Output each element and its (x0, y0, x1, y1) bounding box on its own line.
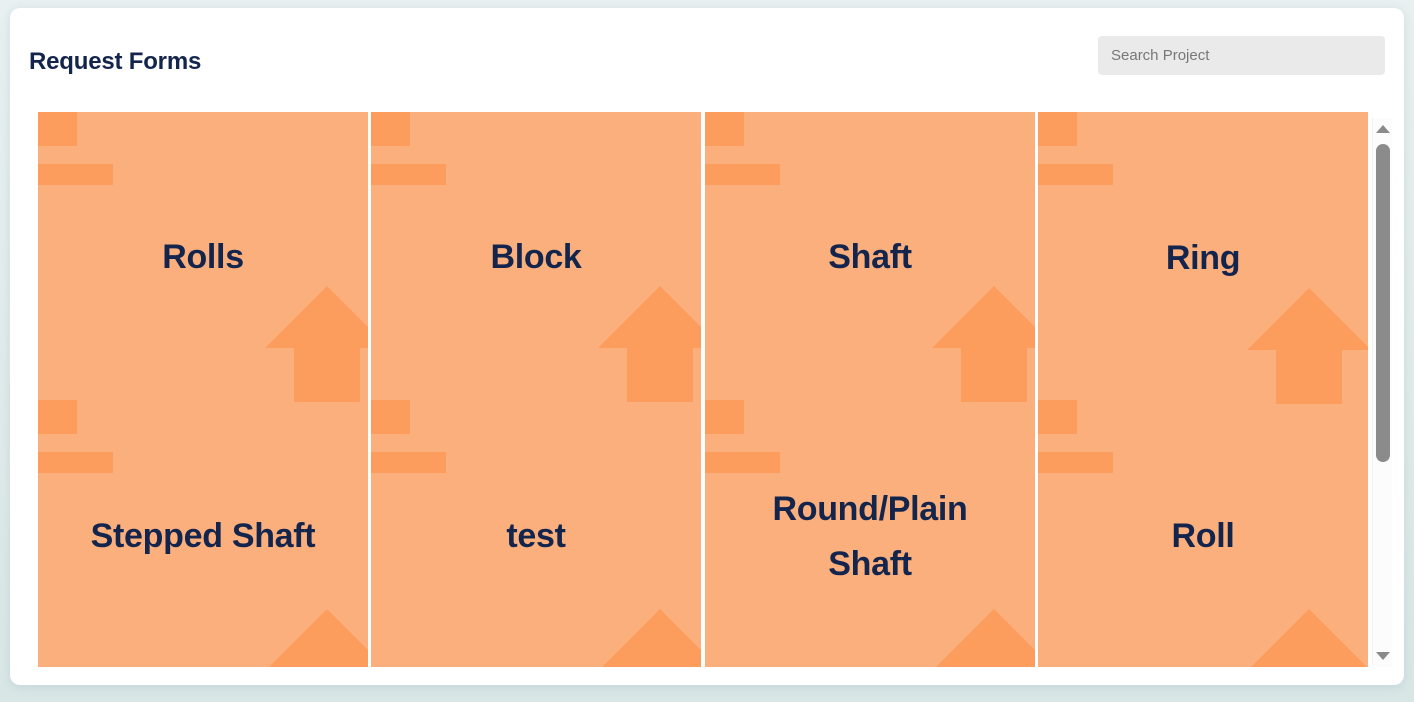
upload-arrow-icon (931, 282, 1035, 402)
card-placeholder-bar (38, 164, 113, 185)
search-input[interactable] (1098, 36, 1385, 75)
card-placeholder-block (1038, 400, 1077, 434)
triangle-up-icon (1376, 125, 1390, 133)
card-title: Block (371, 112, 701, 402)
triangle-down-icon (1376, 652, 1390, 660)
card-placeholder-block (1038, 112, 1077, 146)
upload-arrow-icon (597, 605, 701, 667)
scrollbar-down-button[interactable] (1373, 645, 1392, 667)
card-placeholder-bar (38, 452, 113, 473)
upload-arrow-icon (1246, 605, 1368, 667)
form-card[interactable]: Ring (1038, 112, 1368, 404)
card-placeholder-block (38, 400, 77, 434)
panel-header: Request Forms (10, 8, 1404, 100)
card-title: Ring (1038, 112, 1368, 404)
form-card[interactable]: Stepped Shaft (38, 400, 368, 667)
card-title: Roll (1038, 400, 1368, 667)
scrollbar-thumb[interactable] (1376, 144, 1390, 462)
page-title: Request Forms (29, 50, 201, 74)
card-placeholder-bar (1038, 164, 1113, 185)
vertical-scrollbar[interactable] (1372, 118, 1392, 667)
card-title: test (371, 400, 701, 667)
card-title: Stepped Shaft (38, 400, 368, 667)
card-placeholder-bar (705, 164, 780, 185)
card-placeholder-block (38, 112, 77, 146)
card-placeholder-block (705, 112, 744, 146)
upload-arrow-icon (597, 282, 701, 402)
card-title: Shaft (705, 112, 1035, 402)
card-placeholder-bar (705, 452, 780, 473)
card-placeholder-bar (1038, 452, 1113, 473)
request-forms-panel: Request Forms Rolls Block (10, 8, 1404, 685)
form-card[interactable]: Round/Plain Shaft (705, 400, 1035, 667)
scrollbar-up-button[interactable] (1373, 118, 1392, 140)
form-card[interactable]: test (371, 400, 701, 667)
upload-arrow-icon (1246, 284, 1368, 404)
card-title: Round/Plain Shaft (705, 400, 1035, 667)
card-placeholder-block (371, 112, 410, 146)
form-card[interactable]: Shaft (705, 112, 1035, 402)
form-card[interactable]: Rolls (38, 112, 368, 402)
form-card[interactable]: Roll (1038, 400, 1368, 667)
upload-arrow-icon (264, 605, 368, 667)
cards-scroll-viewport: Rolls Block Shaft (28, 100, 1370, 667)
card-placeholder-block (705, 400, 744, 434)
card-placeholder-block (371, 400, 410, 434)
form-card[interactable]: Block (371, 112, 701, 402)
card-placeholder-bar (371, 452, 446, 473)
upload-arrow-icon (931, 605, 1035, 667)
upload-arrow-icon (264, 282, 368, 402)
card-placeholder-bar (371, 164, 446, 185)
card-title: Rolls (38, 112, 368, 402)
